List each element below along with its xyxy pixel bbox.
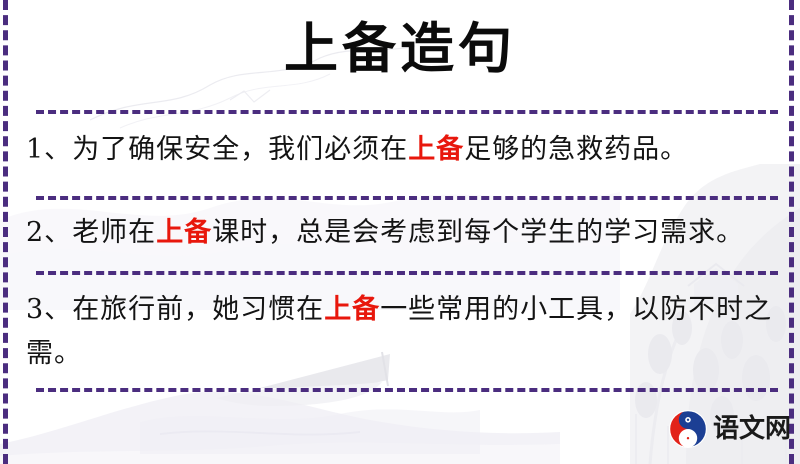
- sentence-number: 1、: [26, 134, 72, 165]
- site-logo[interactable]: 语文网: [668, 409, 791, 449]
- divider-above-sentence-1: [36, 110, 778, 114]
- frame-border-right: [789, 0, 794, 464]
- sentence-text-before: 老师在: [72, 217, 156, 248]
- sentence-keyword: 上备: [156, 217, 212, 248]
- divider-above-sentence-2: [36, 196, 778, 200]
- sentence-keyword: 上备: [408, 134, 464, 165]
- sentence-item: 2、老师在上备课时，总是会考虑到每个学生的学习需求。: [26, 211, 776, 255]
- sentence-keyword: 上备: [324, 294, 380, 325]
- sentence-number: 2、: [26, 217, 72, 248]
- sentence-item: 1、为了确保安全，我们必须在上备足够的急救药品。: [26, 128, 776, 172]
- frame-border-left: [3, 0, 8, 464]
- divider-below-sentence-3: [36, 388, 778, 392]
- worksheet-page: 上备造句 1、为了确保安全，我们必须在上备足够的急救药品。 2、老师在上备课时，…: [0, 0, 800, 464]
- sentence-text-after: 课时，总是会考虑到每个学生的学习需求。: [212, 217, 744, 248]
- yinyang-fish-icon: [668, 409, 708, 449]
- sentence-item: 3、在旅行前，她习惯在上备一些常用的小工具，以防不时之需。: [26, 288, 776, 376]
- sentence-text-before: 在旅行前，她习惯在: [72, 294, 324, 325]
- page-title: 上备造句: [0, 16, 800, 81]
- sentence-number: 3、: [26, 294, 72, 325]
- logo-wordmark: 语文网: [713, 416, 791, 442]
- sentence-text-before: 为了确保安全，我们必须在: [72, 134, 408, 165]
- sentence-text-after: 足够的急救药品。: [464, 134, 688, 165]
- divider-above-sentence-3: [36, 271, 778, 275]
